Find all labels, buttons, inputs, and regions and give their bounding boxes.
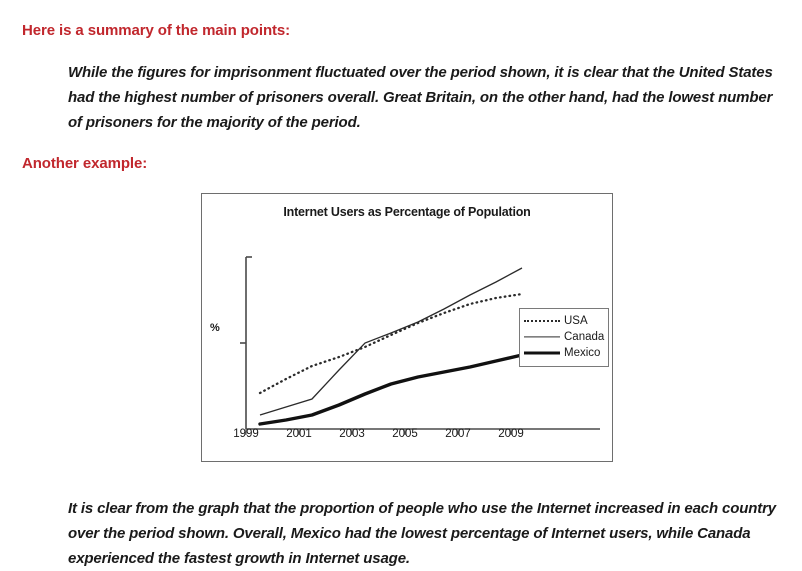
x-tick-label-1999: 1999	[226, 428, 266, 440]
legend-label-usa: USA	[562, 315, 588, 327]
document-page: Here is a summary of the main points: Wh…	[0, 0, 802, 570]
legend-item-mexico: Mexico	[520, 345, 608, 361]
legend-item-canada: Canada	[520, 329, 608, 345]
heading-another-example: Another example:	[22, 155, 147, 172]
x-tick-label-2003: 2003	[332, 428, 372, 440]
legend-swatch-dotted-line-icon	[524, 316, 562, 326]
series-line-canada	[260, 268, 522, 415]
legend-swatch-thick-line-icon	[524, 348, 562, 358]
x-tick-label-2005: 2005	[385, 428, 425, 440]
x-tick-label-2009: 2009	[491, 428, 531, 440]
paragraph-summary: While the figures for imprisonment fluct…	[68, 60, 780, 135]
chart-legend: USA Canada Mexico	[519, 308, 609, 367]
series-line-usa	[260, 294, 522, 393]
legend-item-usa: USA	[520, 313, 608, 329]
legend-label-mexico: Mexico	[562, 347, 600, 359]
x-tick-label-2001: 2001	[279, 428, 319, 440]
x-tick-label-2007: 2007	[438, 428, 478, 440]
series-line-mexico	[260, 355, 522, 424]
legend-label-canada: Canada	[562, 331, 604, 343]
chart-figure: Internet Users as Percentage of Populati…	[201, 193, 613, 462]
legend-swatch-thin-line-icon	[524, 332, 562, 342]
heading-summary: Here is a summary of the main points:	[22, 22, 290, 39]
paragraph-conclusion: It is clear from the graph that the prop…	[68, 496, 780, 571]
